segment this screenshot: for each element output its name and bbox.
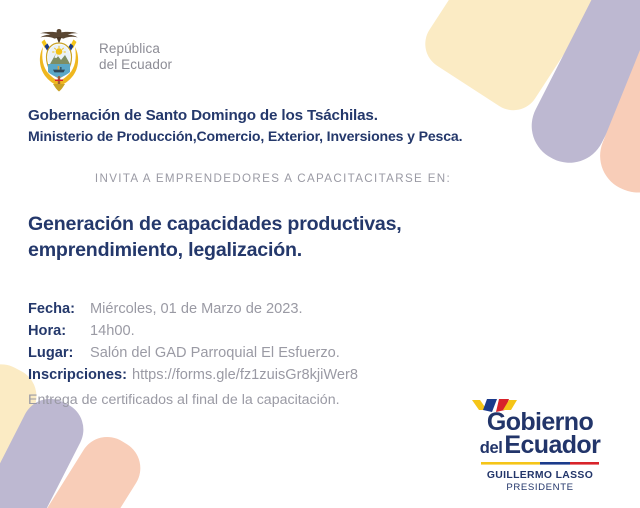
gov-logo-word-row: del Ecuador — [456, 434, 624, 458]
republic-line-2: del Ecuador — [99, 57, 172, 73]
republic-wordmark: República del Ecuador — [99, 41, 172, 72]
course-title-line-1: Generación de capacidades productivas, — [28, 211, 528, 237]
registration-url[interactable]: https://forms.gle/fz1zuisGr8kjiWer8 — [132, 364, 358, 386]
detail-label-lugar: Lugar: — [28, 342, 84, 364]
detail-row-lugar: Lugar: Salón del GAD Parroquial El Esfue… — [28, 342, 614, 364]
gov-logo-word-ecuador: Ecuador — [504, 434, 600, 458]
gobierno-del-ecuador-logo: Gobierno del Ecuador GUILLERMO LASSO PRE… — [456, 397, 624, 494]
decorative-ribbon-bottom-left-peach — [23, 426, 151, 508]
detail-row-hora: Hora: 14h00. — [28, 320, 614, 342]
detail-label-hora: Hora: — [28, 320, 84, 342]
course-title: Generación de capacidades productivas, e… — [28, 211, 528, 263]
president-name: GUILLERMO LASSO — [456, 469, 624, 482]
course-title-line-2: emprendimiento, legalización. — [28, 237, 528, 263]
detail-row-inscripciones: Inscripciones: https://forms.gle/fz1zuis… — [28, 364, 614, 386]
detail-value-lugar: Salón del GAD Parroquial El Esfuerzo. — [90, 342, 340, 364]
poster-content: República del Ecuador Gobernación de San… — [0, 0, 640, 411]
republic-line-1: República — [99, 41, 172, 57]
event-invitation-poster: República del Ecuador Gobernación de San… — [0, 0, 640, 508]
detail-value-hora: 14h00. — [90, 320, 135, 342]
invitation-line: INVITA A EMPRENDEDORES A CAPACITACITARSE… — [28, 172, 614, 185]
president-role: PRESIDENTE — [456, 482, 624, 494]
republic-lockup: República del Ecuador — [28, 22, 614, 92]
detail-label-fecha: Fecha: — [28, 298, 84, 320]
flag-tricolor-rule — [481, 462, 599, 465]
ecuador-coat-of-arms-icon — [28, 22, 90, 92]
detail-label-inscripciones: Inscripciones: — [28, 364, 127, 386]
detail-value-fecha: Miércoles, 01 de Marzo de 2023. — [90, 298, 303, 320]
organization-heading-secondary: Ministerio de Producción,Comercio, Exter… — [28, 127, 614, 146]
detail-row-fecha: Fecha: Miércoles, 01 de Marzo de 2023. — [28, 298, 614, 320]
event-details: Fecha: Miércoles, 01 de Marzo de 2023. H… — [28, 298, 614, 412]
gov-logo-word-del: del — [480, 441, 503, 457]
organization-heading-primary: Gobernación de Santo Domingo de los Tsác… — [28, 106, 614, 127]
